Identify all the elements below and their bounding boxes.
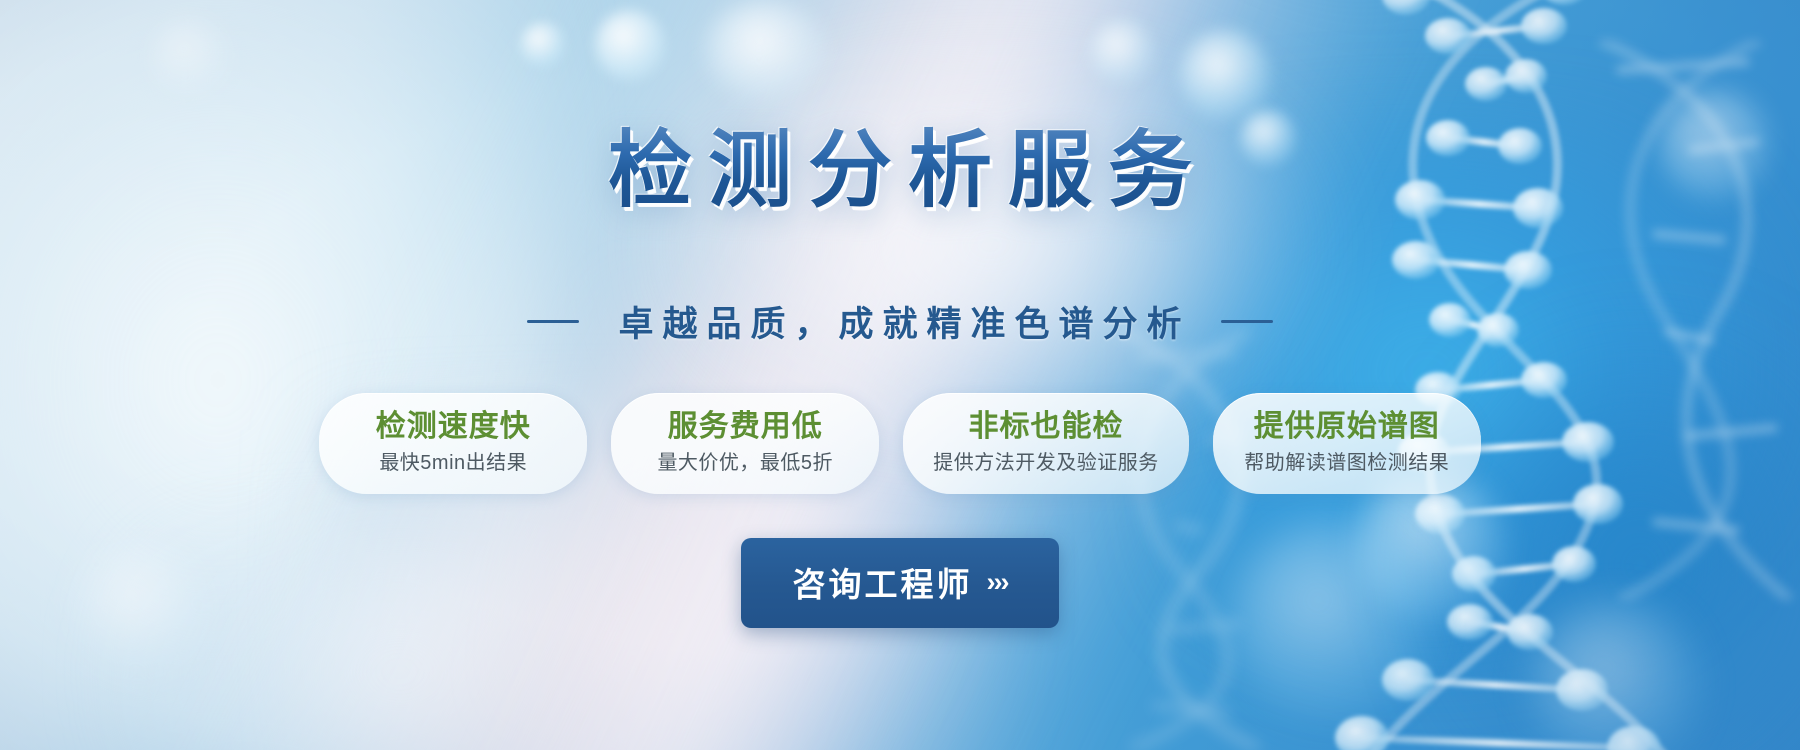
detection-service-banner: 检测分析服务 卓越品质，成就精准色谱分析 检测速度快 最快5min出结果 服务费… bbox=[0, 0, 1800, 750]
page-title: 检测分析服务 bbox=[592, 126, 1208, 214]
feature-pill-raw-spectra[interactable]: 提供原始谱图 帮助解读谱图检测结果 bbox=[1213, 393, 1481, 494]
dash-left-decoration bbox=[527, 320, 579, 323]
dash-right-decoration bbox=[1221, 320, 1273, 323]
feature-title: 检测速度快 bbox=[349, 407, 557, 446]
feature-title: 非标也能检 bbox=[933, 407, 1159, 446]
feature-title: 提供原始谱图 bbox=[1243, 407, 1451, 446]
subtitle-row: 卓越品质，成就精准色谱分析 bbox=[527, 296, 1272, 347]
consult-engineer-label: 咨询工程师 bbox=[793, 558, 973, 606]
feature-pill-list: 检测速度快 最快5min出结果 服务费用低 量大价优，最低5折 非标也能检 提供… bbox=[319, 393, 1481, 494]
banner-content: 检测分析服务 卓越品质，成就精准色谱分析 检测速度快 最快5min出结果 服务费… bbox=[0, 0, 1800, 750]
feature-subtitle: 提供方法开发及验证服务 bbox=[933, 450, 1159, 477]
feature-subtitle: 量大价优，最低5折 bbox=[641, 450, 849, 477]
feature-pill-nonstandard[interactable]: 非标也能检 提供方法开发及验证服务 bbox=[903, 393, 1189, 494]
feature-pill-speed[interactable]: 检测速度快 最快5min出结果 bbox=[319, 393, 587, 494]
page-subtitle: 卓越品质，成就精准色谱分析 bbox=[609, 296, 1190, 347]
chevron-right-triple-icon: ››› bbox=[987, 567, 1008, 598]
feature-title: 服务费用低 bbox=[641, 407, 849, 446]
feature-subtitle: 最快5min出结果 bbox=[349, 450, 557, 477]
consult-engineer-button[interactable]: 咨询工程师 ››› bbox=[741, 538, 1060, 628]
feature-pill-price[interactable]: 服务费用低 量大价优，最低5折 bbox=[611, 393, 879, 494]
feature-subtitle: 帮助解读谱图检测结果 bbox=[1243, 450, 1451, 477]
